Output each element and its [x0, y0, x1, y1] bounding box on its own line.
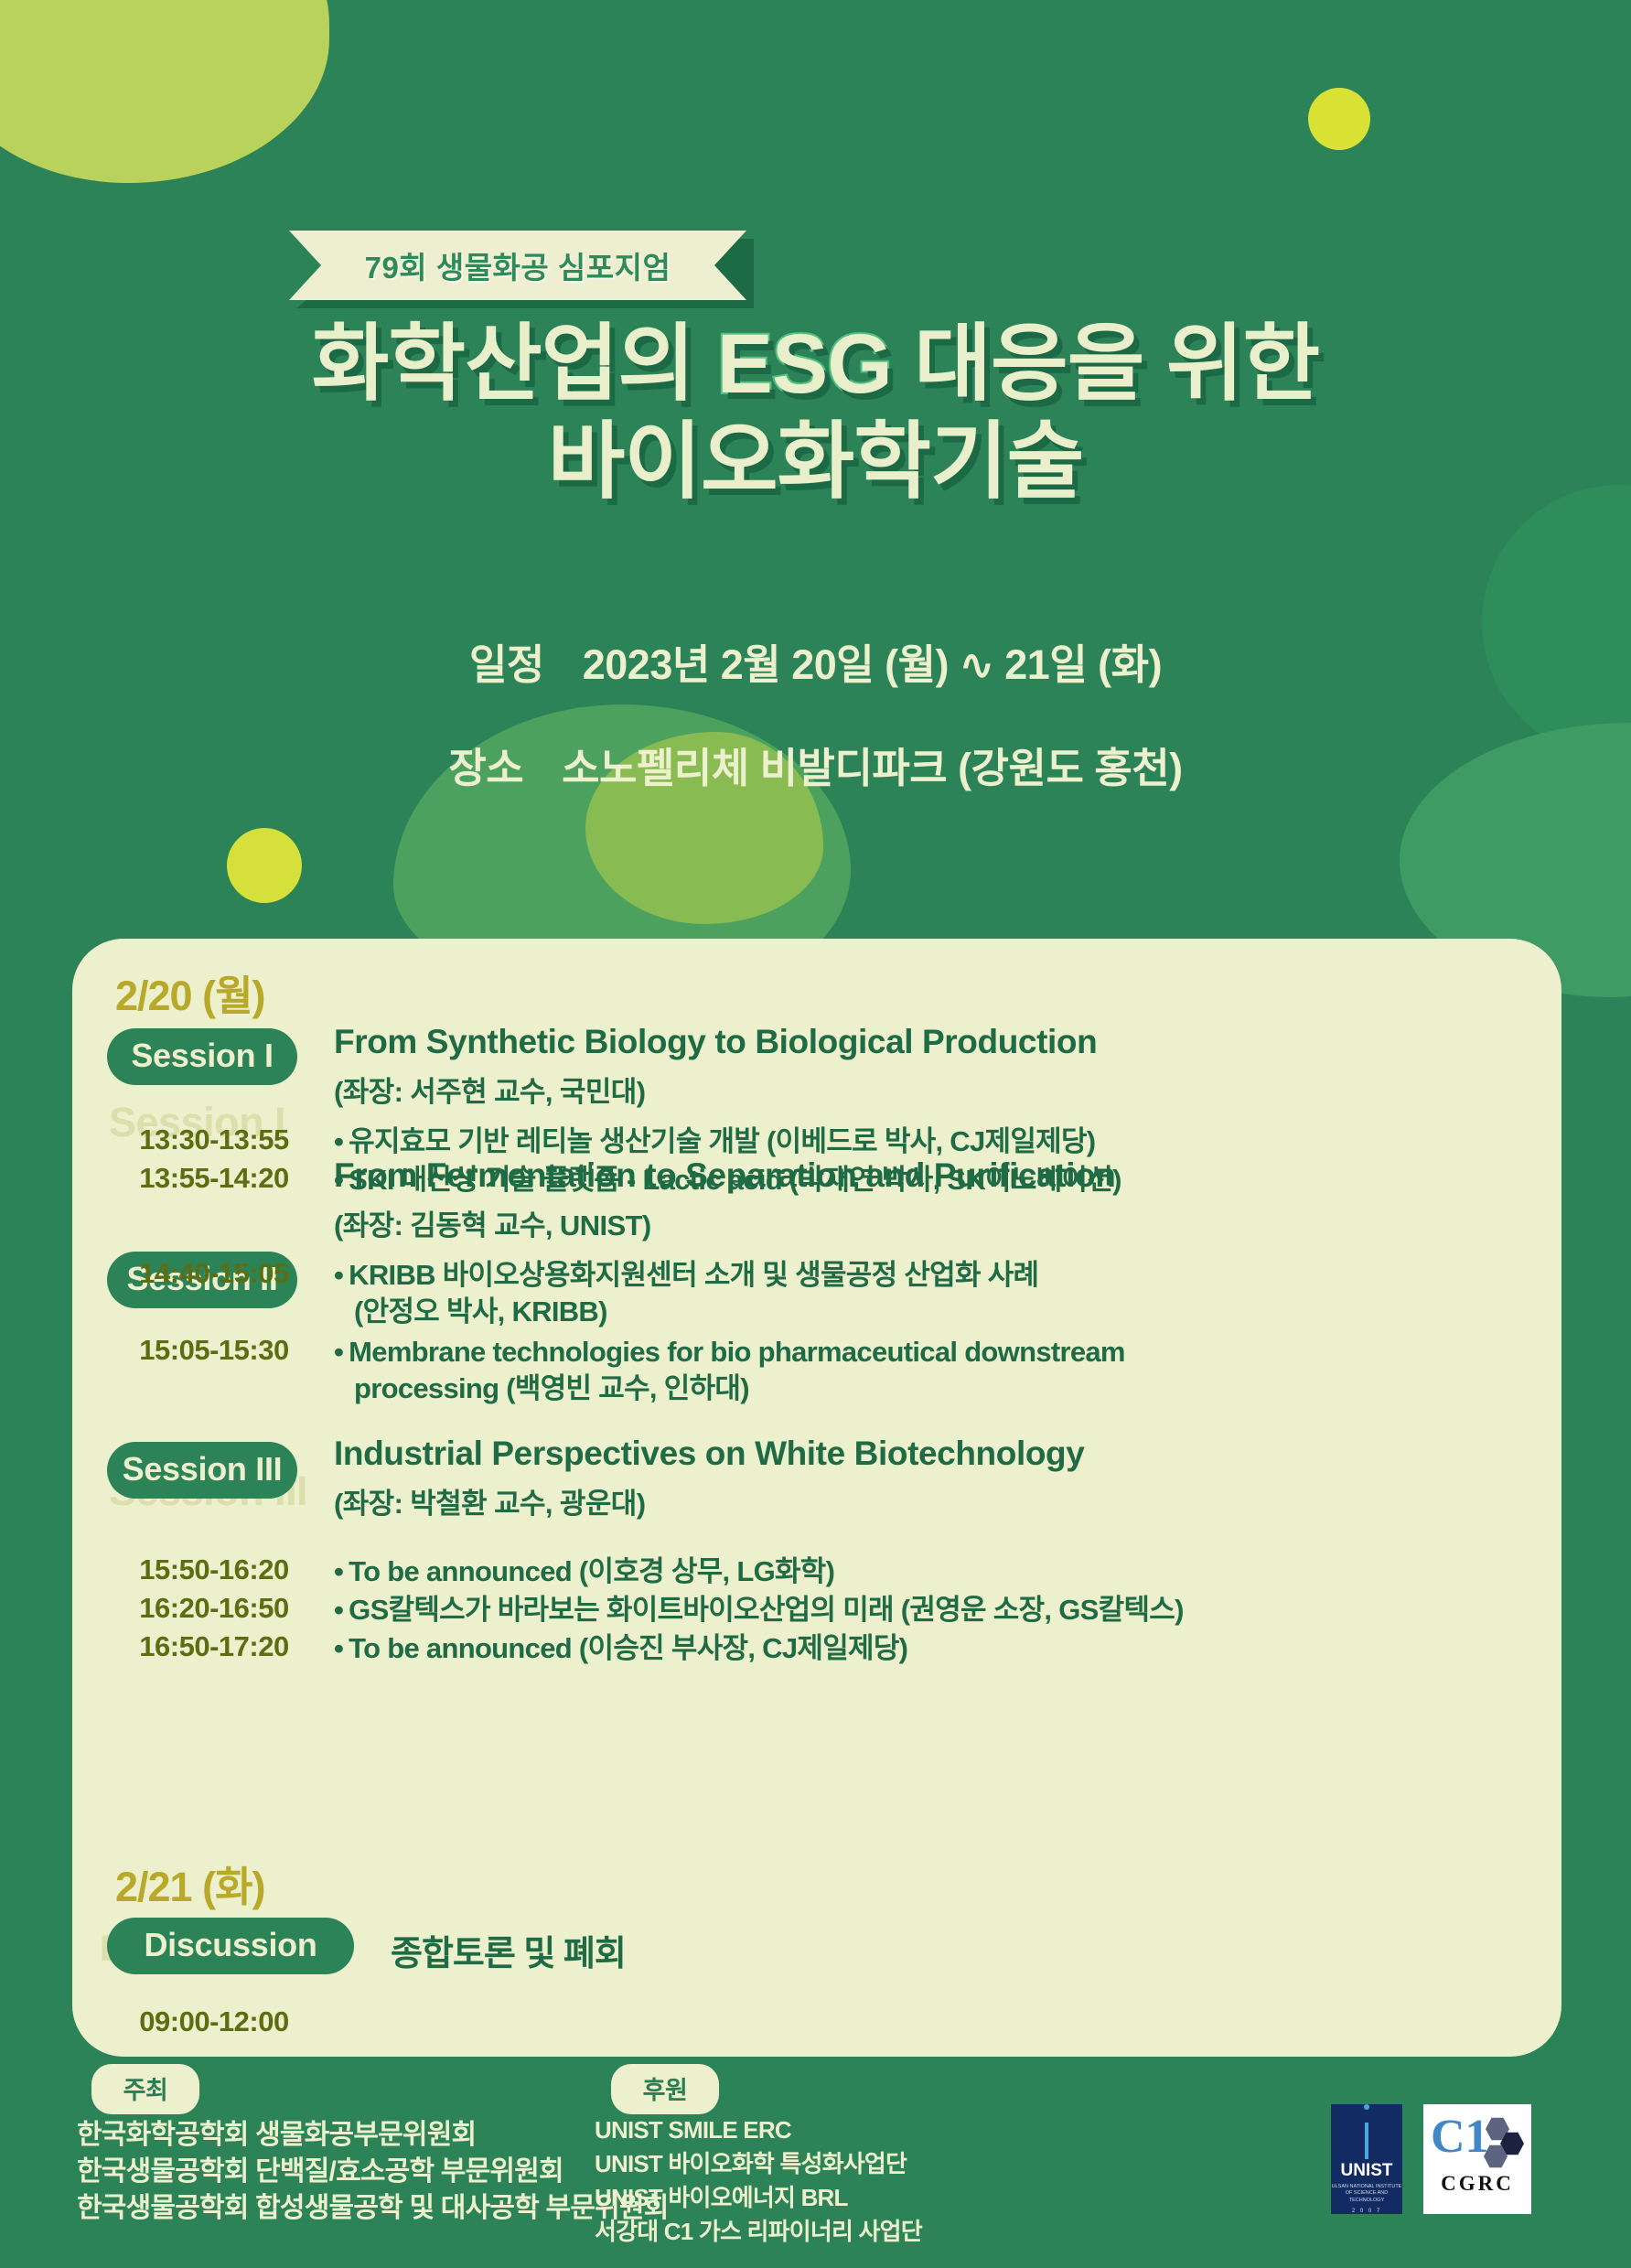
bullet-icon: • [334, 1336, 343, 1368]
schedule-card: 2/20 (월) Session I Session II Session II… [72, 939, 1561, 2057]
day-heading-2: 2/21 (화) [115, 1854, 264, 1913]
discussion-topic: 종합토론 및 폐회 [391, 1925, 626, 1975]
session-title-2: From Fermentation to Separation and Puri… [334, 1156, 1116, 1195]
talk-title: To be announced (이승진 부사장, CJ제일제당) [349, 1632, 907, 1664]
talk-time: 16:50-17:20 [109, 1630, 319, 1663]
event-venue-row: 장소소노펠리체 비발디파크 (강원도 홍천) [0, 735, 1631, 794]
talk-title: 유지효모 기반 레티놀 생산기술 개발 (이베드로 박사, CJ제일제당) [349, 1125, 1095, 1157]
event-meta: 일정2023년 2월 20일 (월) ∿ 21일 (화) 장소소노펠리체 비발디… [0, 631, 1631, 838]
footer: 주최 한국화학공학회 생물화공부문위원회 한국생물공학회 단백질/효소공학 부문… [0, 2064, 1631, 2268]
talk-text: •Membrane technologies for bio pharmaceu… [334, 1334, 1125, 1406]
unist-logo-year: 2 0 0 7 [1331, 2209, 1402, 2214]
talk-time: 13:55-14:20 [109, 1162, 319, 1195]
talk-continuation: processing (백영빈 교수, 인하대) [334, 1370, 1125, 1407]
talk-text: •To be announced (이호경 상무, LG화학) [334, 1553, 834, 1590]
event-ribbon: 79회 생물화공 심포지엄 [289, 231, 746, 300]
talk-text: •유지효모 기반 레티놀 생산기술 개발 (이베드로 박사, CJ제일제당) [334, 1123, 1095, 1160]
talk-title: GS칼텍스가 바라보는 화이트바이오산업의 미래 (권영운 소장, GS칼텍스) [349, 1594, 1184, 1626]
sponsor-org-item: 서강대 C1 가스 리파이너리 사업단 [595, 2215, 922, 2249]
host-label-pill: 주최 [91, 2064, 199, 2114]
poster-root: 79회 생물화공 심포지엄 화학산업의 ESG 대응을 위한 바이오화학기술 일… [0, 0, 1631, 2268]
bullet-icon: • [334, 1125, 343, 1157]
session-title-1: From Synthetic Biology to Biological Pro… [334, 1023, 1097, 1061]
discussion-pill: Discussion [107, 1918, 354, 1974]
session-chair-2: (좌장: 김동혁 교수, UNIST) [334, 1202, 651, 1243]
day-heading-1: 2/20 (월) [115, 962, 264, 1022]
event-date-label: 일정 [469, 641, 544, 688]
event-venue-value: 소노펠리체 비발디파크 (강원도 홍천) [562, 745, 1182, 791]
talk-title: KRIBB 바이오상용화지원센터 소개 및 생물공정 산업화 사례 [349, 1259, 1038, 1291]
host-org-item: 한국생물공학회 단백질/효소공학 부문위원회 [77, 2154, 669, 2190]
decorative-blob-top-left [0, 0, 329, 183]
sponsor-org-item: UNIST 바이오화학 특성화사업단 [595, 2147, 922, 2181]
talk-continuation: (안정오 박사, KRIBB) [334, 1294, 1038, 1330]
unist-dot-icon [1364, 2104, 1369, 2110]
host-organizations: 한국화학공학회 생물화공부문위원회 한국생물공학회 단백질/효소공학 부문위원회… [77, 2117, 669, 2227]
event-date-row: 일정2023년 2월 20일 (월) ∿ 21일 (화) [0, 631, 1631, 691]
talk-title: To be announced (이호경 상무, LG화학) [349, 1555, 834, 1587]
talk-time: 15:05-15:30 [109, 1334, 319, 1367]
talk-text: •To be announced (이승진 부사장, CJ제일제당) [334, 1630, 907, 1667]
unist-mast-icon [1365, 2123, 1368, 2159]
session-pill-3: Session III [107, 1442, 297, 1499]
page-title: 화학산업의 ESG 대응을 위한 바이오화학기술 [0, 316, 1631, 511]
cgrc-logo-c1: C1 [1431, 2110, 1489, 2164]
cgrc-logo: C1 CGRC [1423, 2104, 1531, 2214]
unist-logo-subtitle: ULSAN NATIONAL INSTITUTE OF SCIENCE AND … [1331, 2184, 1402, 2204]
sponsor-org-item: UNIST 바이오에너지 BRL [595, 2181, 922, 2215]
sponsor-organizations: UNIST SMILE ERC UNIST 바이오화학 특성화사업단 UNIST… [595, 2113, 922, 2249]
sponsor-label-pill: 후원 [611, 2064, 719, 2114]
session-title-3: Industrial Perspectives on White Biotech… [334, 1435, 1084, 1473]
cgrc-logo-mark: C1 [1423, 2104, 1531, 2172]
title-accent-esg: ESG [717, 317, 892, 411]
ribbon-body: 79회 생물화공 심포지엄 [289, 231, 746, 300]
event-date-value: 2023년 2월 20일 (월) ∿ 21일 (화) [583, 641, 1162, 688]
sponsor-org-item: UNIST SMILE ERC [595, 2113, 922, 2147]
session-chair-3: (좌장: 박철환 교수, 광운대) [334, 1480, 645, 1521]
ribbon-label: 79회 생물화공 심포지엄 [365, 243, 671, 287]
decorative-dot-yellow-medium [227, 828, 302, 903]
session-pill-1: Session I [107, 1028, 297, 1085]
unist-logo: UNIST ULSAN NATIONAL INSTITUTE OF SCIENC… [1331, 2104, 1402, 2214]
bullet-icon: • [334, 1632, 343, 1664]
title-line-1: 화학산업의 ESG 대응을 위한 [0, 316, 1631, 414]
host-org-item: 한국화학공학회 생물화공부문위원회 [77, 2117, 669, 2154]
title-line-2: 바이오화학기술 [0, 414, 1631, 511]
decorative-dot-yellow-small [1308, 88, 1370, 150]
host-org-item: 한국생물공학회 합성생물공학 및 대사공학 부문위원회 [77, 2190, 669, 2227]
event-venue-label: 장소 [448, 745, 523, 791]
cgrc-logo-text: CGRC [1423, 2172, 1531, 2196]
talk-text: •KRIBB 바이오상용화지원센터 소개 및 생물공정 산업화 사례(안정오 박… [334, 1257, 1038, 1329]
talk-time: 13:30-13:55 [109, 1123, 319, 1156]
talk-title: Membrane technologies for bio pharmaceut… [349, 1336, 1125, 1368]
discussion-time: 09:00-12:00 [109, 2005, 319, 2038]
talk-time: 16:20-16:50 [109, 1592, 319, 1625]
bullet-icon: • [334, 1594, 343, 1626]
talk-text: •GS칼텍스가 바라보는 화이트바이오산업의 미래 (권영운 소장, GS칼텍스… [334, 1592, 1184, 1628]
unist-logo-name: UNIST [1331, 2161, 1402, 2181]
session-chair-1: (좌장: 서주현 교수, 국민대) [334, 1069, 645, 1110]
title-part-after: 대응을 위한 [892, 317, 1319, 411]
title-part-before: 화학산업의 [312, 317, 717, 411]
bullet-icon: • [334, 1555, 343, 1587]
bullet-icon: • [334, 1259, 343, 1291]
talk-time: 14:40-15:05 [109, 1257, 319, 1290]
talk-time: 15:50-16:20 [109, 1553, 319, 1586]
